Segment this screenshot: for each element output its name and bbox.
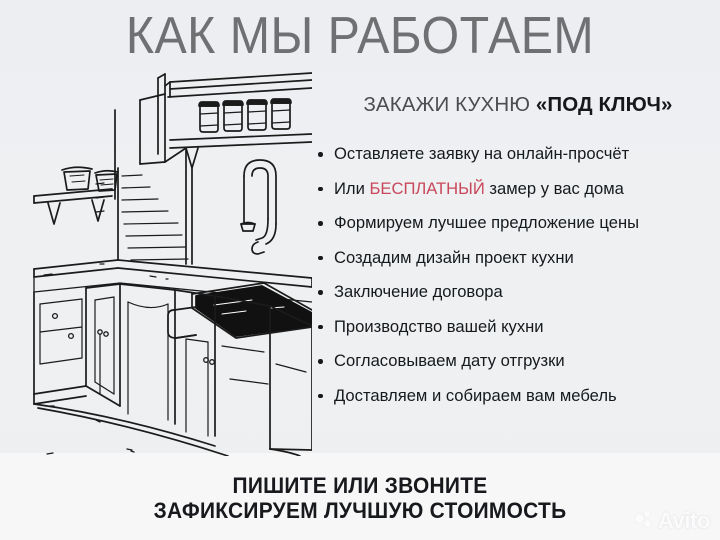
- steps-list: Оставляете заявку на онлайн-просчёт Или …: [316, 144, 720, 406]
- list-item: Оставляете заявку на онлайн-просчёт: [316, 144, 720, 164]
- subheading-bold: «ПОД КЛЮЧ»: [536, 93, 673, 116]
- avito-watermark: Avito: [635, 510, 710, 532]
- list-item: Создадим дизайн проект кухни: [316, 248, 720, 268]
- bullet-dot-icon: [318, 359, 323, 364]
- page-title: КАК МЫ РАБОТАЕМ: [25, 6, 695, 66]
- list-item-text: Согласовываем дату отгрузки: [334, 351, 565, 370]
- list-item-text: Производство вашей кухни: [334, 317, 544, 336]
- list-item-text: Формируем лучшее предложение цены: [334, 213, 639, 232]
- list-item: Согласовываем дату отгрузки: [316, 351, 720, 371]
- list-item: Производство вашей кухни: [316, 317, 720, 337]
- footer-line-2: ЗАФИКСИРУЕМ ЛУЧШУЮ СТОИМОСТЬ: [18, 498, 702, 523]
- avito-dots-icon: [635, 511, 655, 531]
- bullet-dot-icon: [318, 221, 323, 226]
- bullet-dot-icon: [318, 290, 323, 295]
- bullet-dot-icon: [318, 152, 323, 157]
- bullet-dot-icon: [318, 325, 323, 330]
- subheading: ЗАКАЖИ КУХНЮ «ПОД КЛЮЧ»: [316, 92, 720, 118]
- list-item: Формируем лучшее предложение цены: [316, 213, 720, 233]
- bullet-dot-icon: [318, 187, 323, 192]
- kitchen-sketch-svg: [0, 64, 312, 456]
- bullet-dot-icon: [318, 394, 323, 399]
- poster-root: КАК МЫ РАБОТАЕМ: [0, 0, 720, 540]
- list-item-text: Создадим дизайн проект кухни: [334, 248, 574, 267]
- bullet-dot-icon: [318, 256, 323, 261]
- list-item: Заключение договора: [316, 282, 720, 302]
- list-item-text: Заключение договора: [334, 282, 503, 301]
- jars-group: [199, 99, 291, 132]
- list-item-text: Или: [334, 179, 370, 198]
- list-item-highlight: БЕСПЛАТНЫЙ: [370, 179, 485, 198]
- kitchen-illustration: [0, 64, 312, 456]
- backsplash-hatch: [96, 175, 188, 260]
- faucet-group: [241, 160, 276, 254]
- avito-wordmark: Avito: [658, 510, 710, 532]
- footer-text-block: ПИШИТЕ ИЛИ ЗВОНИТЕ ЗАФИКСИРУЕМ ЛУЧШУЮ СТ…: [0, 473, 720, 523]
- list-item: Или БЕСПЛАТНЫЙ замер у вас дома: [316, 179, 720, 199]
- list-item-text-after: замер у вас дома: [485, 179, 624, 198]
- subheading-regular: ЗАКАЖИ КУХНЮ: [363, 93, 535, 116]
- list-item: Доставляем и собираем вам мебель: [316, 386, 720, 406]
- list-item-text: Доставляем и собираем вам мебель: [334, 386, 617, 405]
- content-column: ЗАКАЖИ КУХНЮ «ПОД КЛЮЧ» Оставляете заявк…: [316, 92, 720, 420]
- sink-group: [168, 283, 312, 338]
- footer-line-1: ПИШИТЕ ИЛИ ЗВОНИТЕ: [18, 473, 702, 498]
- list-item-text: Оставляете заявку на онлайн-просчёт: [334, 144, 629, 163]
